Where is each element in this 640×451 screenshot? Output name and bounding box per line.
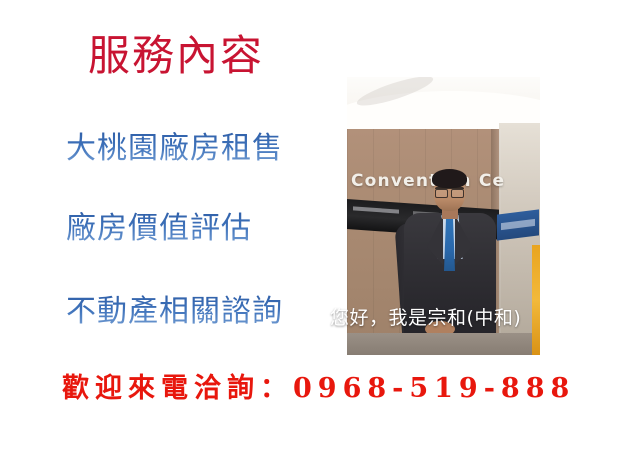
photo-accent-strip [532, 245, 540, 355]
glasses-icon [435, 187, 464, 196]
photo-wall-signage-text: Convention Ce [351, 171, 505, 191]
photo-floor [347, 333, 540, 355]
slide-canvas: 服務內容 大桃園廠房租售 廠房價值評估 不動產相關諮詢 Convention C… [0, 0, 640, 451]
contact-phone-line: 歡迎來電洽詢：0968-519-888 [62, 372, 575, 406]
photo-caption: 您好，我是宗和(中和) [330, 306, 521, 330]
service-item-1: 大桃園廠房租售 [66, 131, 283, 167]
page-title: 服務內容 [88, 32, 264, 80]
photo-person-hair [432, 169, 467, 188]
service-item-3: 不動產相關諮詢 [66, 294, 283, 330]
service-item-2: 廠房價值評估 [66, 211, 252, 247]
